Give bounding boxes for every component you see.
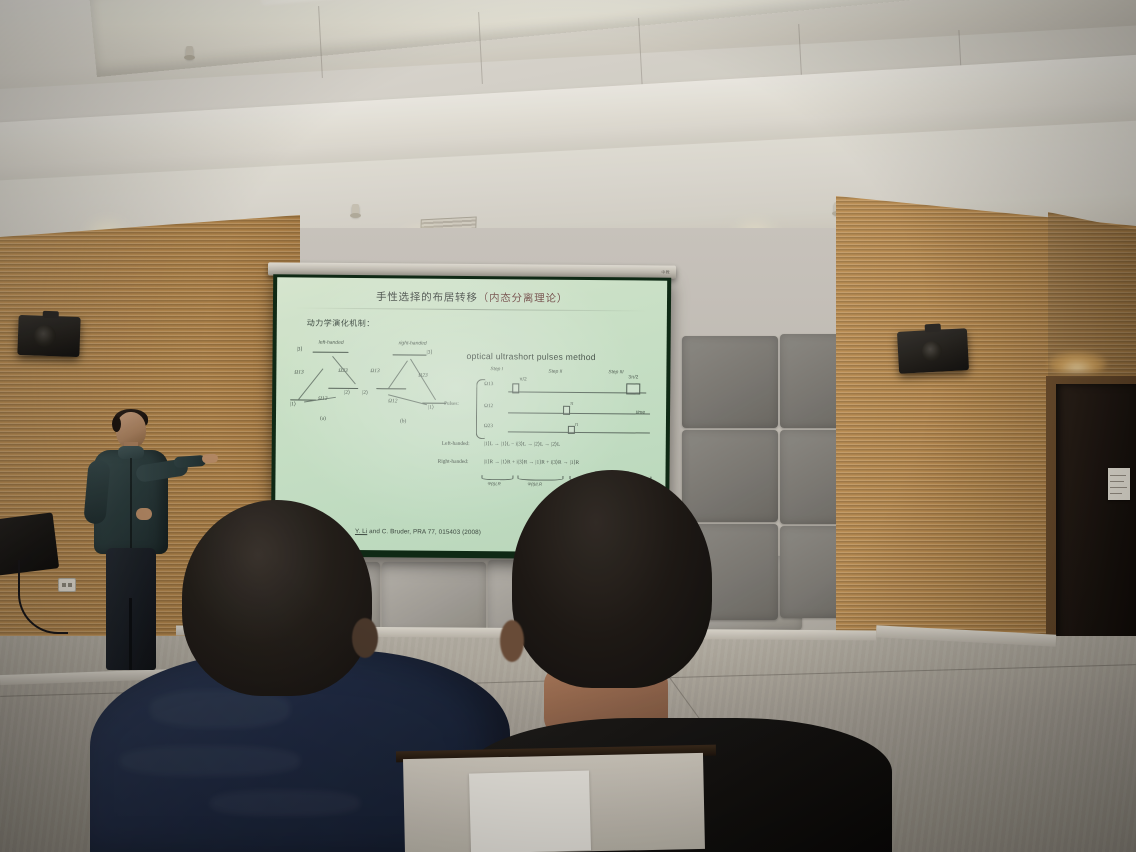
diagram-a-state-3: |3⟩ <box>297 346 303 352</box>
diagram-b-omega-12: Ω12 <box>388 398 397 404</box>
sequence-right-chain: |1⟩R → |1⟩R + i|3⟩R → |1⟩R + i|3⟩R → |1⟩… <box>484 459 580 466</box>
presenter-hair-side <box>112 416 121 432</box>
door-sign <box>1108 468 1130 500</box>
slide-title-rule <box>295 307 649 311</box>
ceiling <box>0 0 1136 240</box>
pulse-step-1: Step I <box>490 367 503 372</box>
diagram-a-caption: (a) <box>320 416 326 422</box>
wall-sconce-glow <box>1048 352 1106 372</box>
audience-right-ear <box>500 620 524 662</box>
diagram-a-omega-23: Ω23 <box>338 368 347 374</box>
pulse-row-3-axis <box>508 431 650 433</box>
slide-method-heading: optical ultrashort pulses method <box>466 351 595 362</box>
diagram-b-coupling-line <box>410 359 436 400</box>
pulse-time-axis-label: time <box>636 410 645 415</box>
slide-title-main: 手性选择的布居转移 <box>376 292 478 304</box>
pulse-row-2-mark-1-label: π <box>570 402 573 407</box>
audience-left-head <box>182 500 372 696</box>
speaker-cone-icon <box>921 341 942 362</box>
sequence-right-label: Right-handed: <box>438 459 469 465</box>
door[interactable] <box>1056 384 1136 676</box>
speaker-bracket <box>925 324 941 333</box>
pulse-step-2: Step II <box>548 370 562 375</box>
pulses-group-label: Pulses: <box>444 401 459 407</box>
diagram-a-state-2: |2⟩ <box>344 390 350 396</box>
diagram-a-state-1: |1⟩ <box>290 401 296 407</box>
pulse-row-2-mark-1 <box>563 406 570 415</box>
pulse-row-1-channel: Ω13 <box>484 381 493 387</box>
slide-title-paren: （内态分离理论） <box>478 293 568 305</box>
diagram-a-omega-12: Ω12 <box>318 396 327 402</box>
lecture-hall-photo: 中教 手性选择的布居转移（内态分离理论） 动力学演化机制： optical ul… <box>0 0 1136 852</box>
pulse-row-3-mark-1-label: π <box>575 423 578 428</box>
sequence-left-chain: |1⟩L → |1⟩L − i|3⟩L → |2⟩L → |2⟩L <box>484 441 561 448</box>
diagram-b-state-2: |2⟩ <box>362 390 368 396</box>
paper-sheet <box>469 770 591 852</box>
audience-right-head <box>512 470 712 688</box>
pulse-row-1-mark-2 <box>626 383 640 394</box>
pulse-step-3: Step III <box>608 370 623 375</box>
acoustic-panel <box>682 336 778 428</box>
left-wall-speaker <box>17 315 80 357</box>
diagram-a-level-3 <box>313 352 349 354</box>
speaker-cone-icon <box>34 324 57 347</box>
presenter-pointing-hand <box>202 454 218 464</box>
right-wall-speaker <box>897 328 969 374</box>
slide-title: 手性选择的布居转移（内态分离理论） <box>277 288 667 306</box>
pulse-row-1-mark-1 <box>512 383 519 393</box>
diagram-b-caption: (b) <box>400 418 406 424</box>
pulse-row-1-mark-2-label: 3π/2 <box>628 375 638 380</box>
speaker-bracket <box>43 311 59 319</box>
diagram-b-state-3: |3⟩ <box>427 350 433 356</box>
diagram-b-omega-23: Ω23 <box>418 373 427 379</box>
sequence-left-label: Left-handed: <box>442 441 470 447</box>
pulse-row-1-mark-1-label: π/2 <box>519 377 526 382</box>
pulse-row-3-channel: Ω23 <box>484 423 493 429</box>
pulse-row-3-mark-1 <box>568 426 575 434</box>
diagram-b-coupling-line <box>388 360 408 389</box>
slide-subtitle: 动力学演化机制： <box>307 318 375 330</box>
diagram-b-state-1: |1⟩ <box>428 405 434 411</box>
fire-sprinkler <box>352 204 359 216</box>
diagram-a-omega-13: Ω13 <box>294 369 303 375</box>
diagram-b-level-3 <box>393 354 427 356</box>
diagram-b-omega-13: Ω13 <box>370 368 379 374</box>
pulse-row-2-channel: Ω12 <box>484 403 493 409</box>
fire-sprinkler <box>186 46 193 58</box>
diagram-a-handedness: left-handed <box>319 340 344 346</box>
diagram-b-handedness: right-handed <box>399 340 427 346</box>
screen-brand-label: 中教 <box>661 269 670 275</box>
diagram-b-level-2 <box>376 388 406 390</box>
pulse-row-2-axis <box>508 412 650 414</box>
audience-left-ear <box>352 618 378 658</box>
